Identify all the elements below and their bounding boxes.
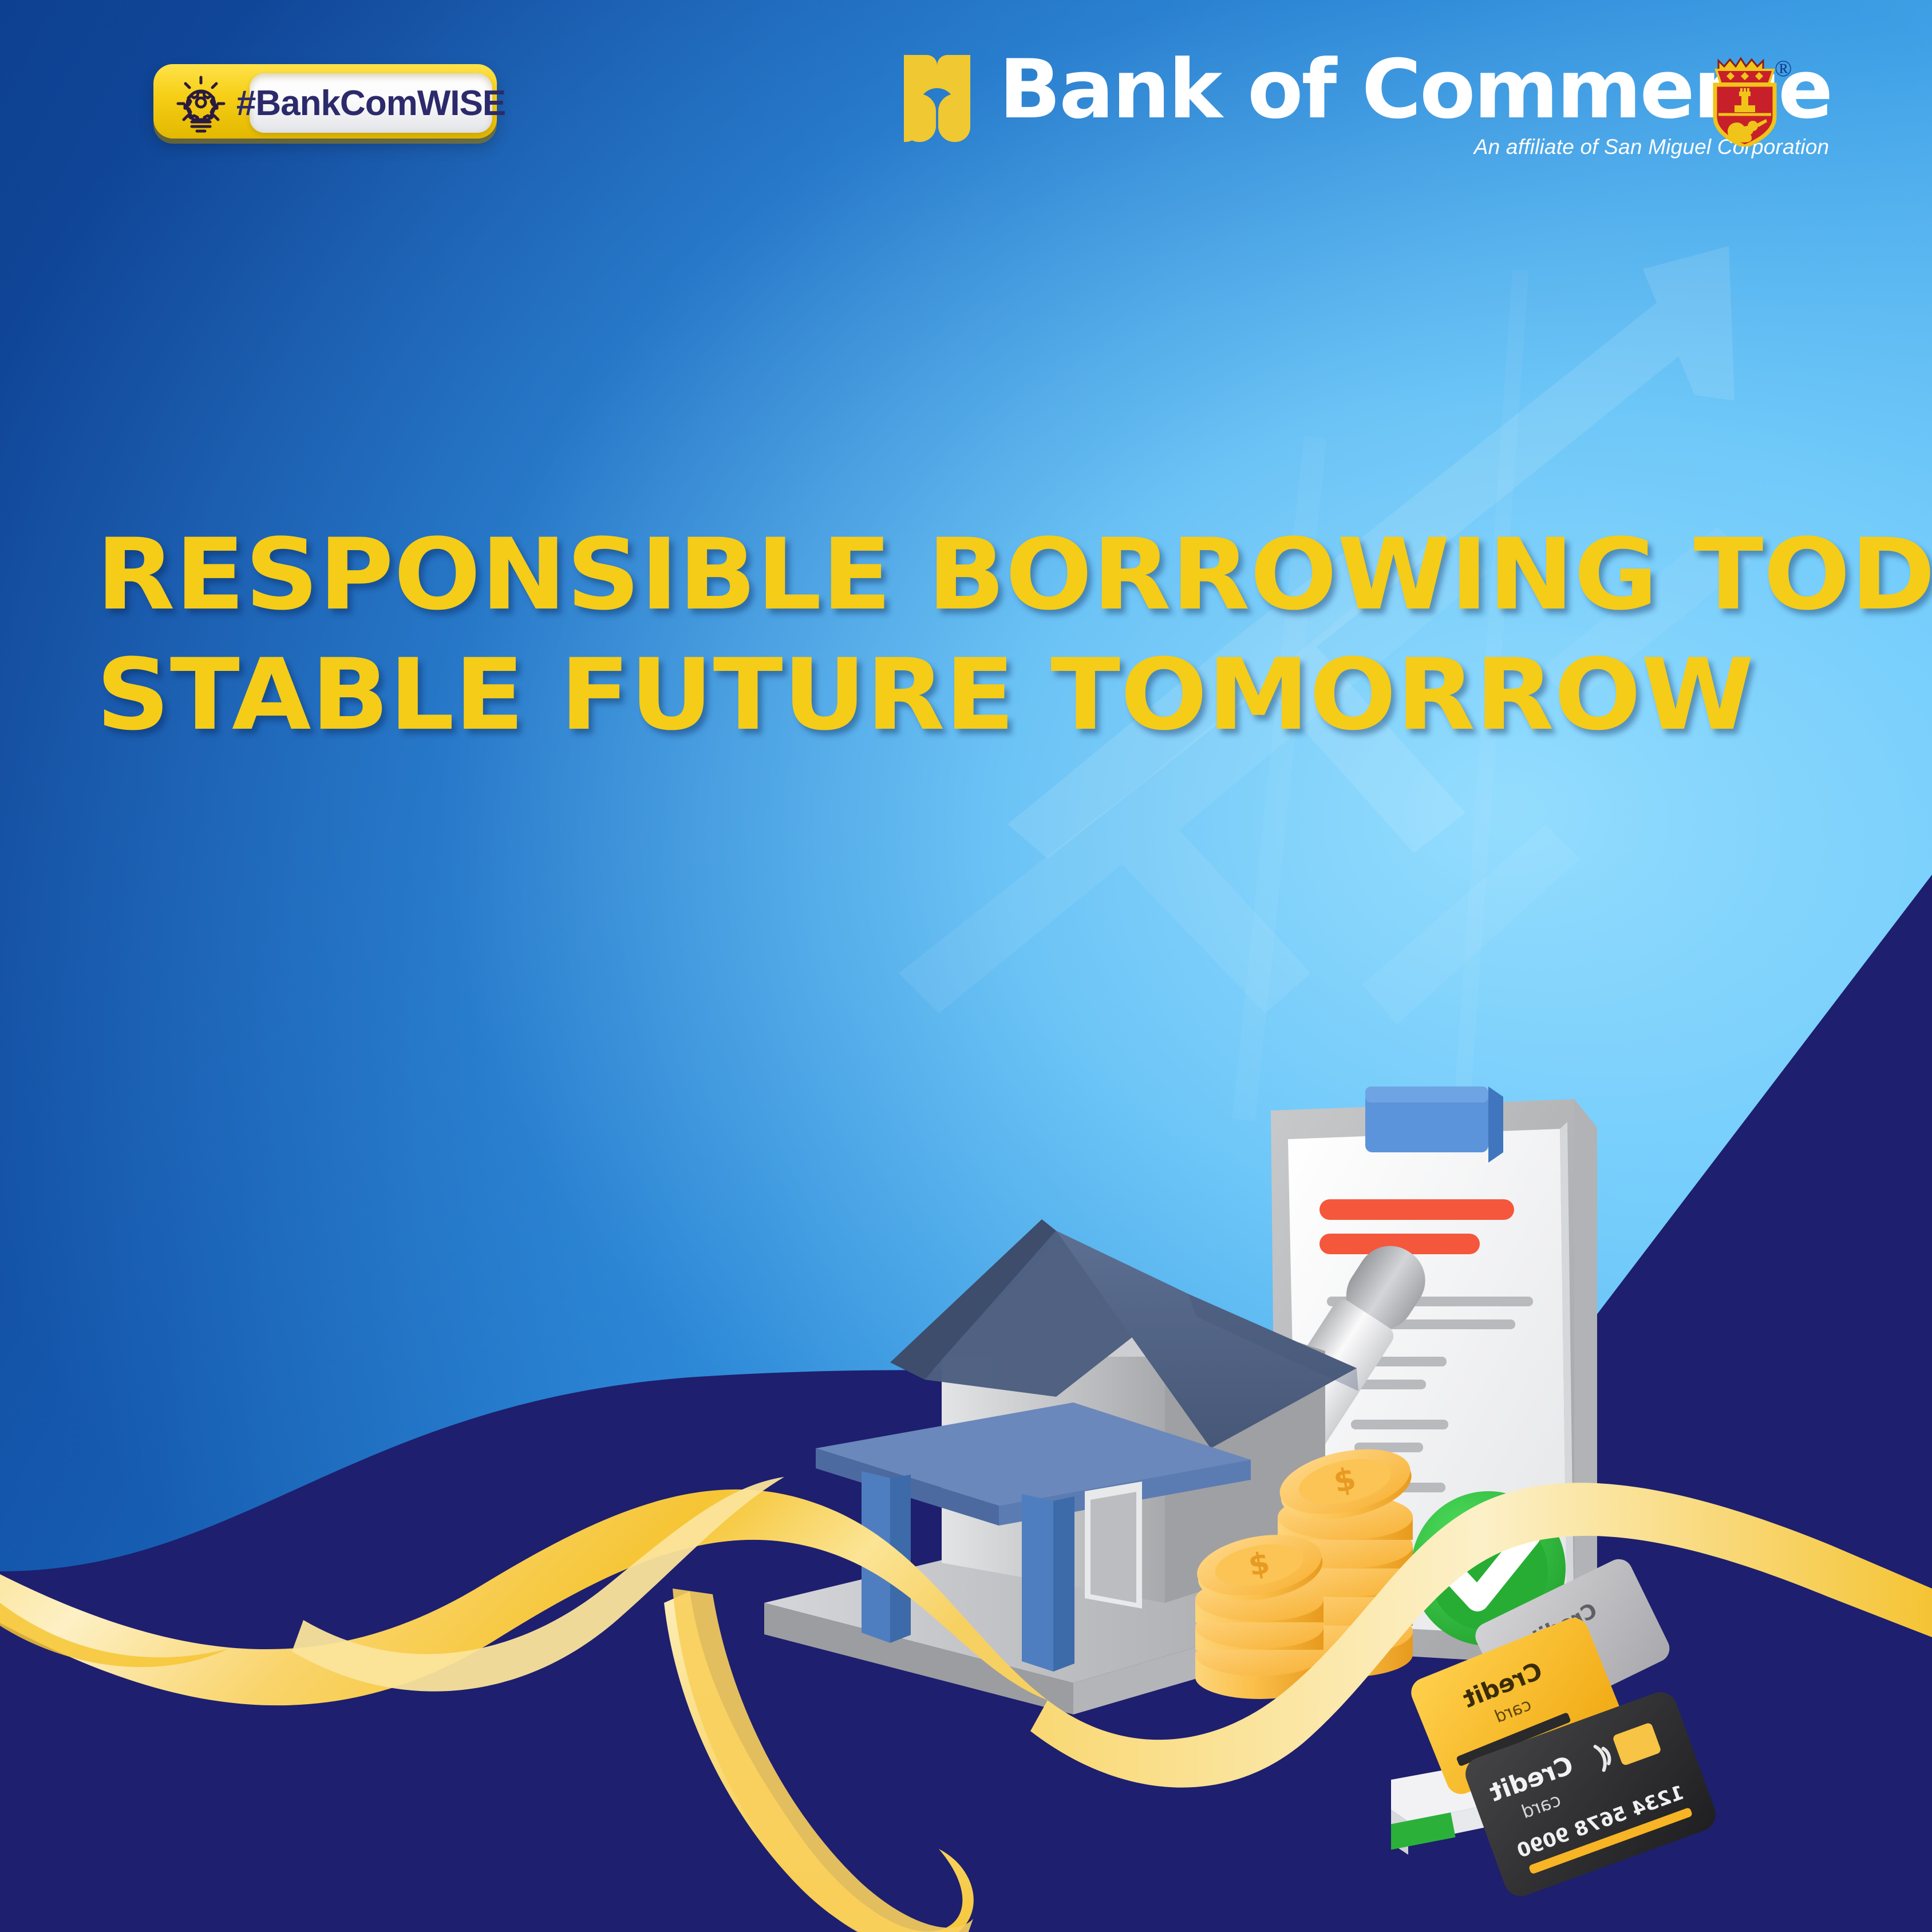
bankcomwise-badge[interactable]: #BankComWISE [153, 64, 497, 139]
bank-of-commerce-logo[interactable]: Bank of Commerce An affiliate of San Mig… [900, 49, 1831, 148]
poster-header: #BankComWISE Bank of Commerce An affilia… [0, 0, 1932, 172]
headline-line-1: RESPONSIBLE BORROWING TODAY, [96, 526, 1918, 624]
loan-approval-illustration: $ $ [675, 1019, 1932, 1932]
bank-of-commerce-leaf-mark-icon [900, 49, 974, 148]
headline-block: RESPONSIBLE BORROWING TODAY, STABLE FUTU… [96, 526, 1848, 744]
lightbulb-gear-icon [167, 64, 235, 139]
gold-ribbon [0, 996, 1932, 1932]
registered-trademark-symbol: ® [1775, 55, 1792, 82]
headline-line-2: STABLE FUTURE TOMORROW [96, 646, 1918, 744]
bankcomwise-label: #BankComWISE [236, 83, 505, 124]
poster-canvas: #BankComWISE Bank of Commerce An affilia… [0, 0, 1932, 1932]
bankcomwise-pill: #BankComWISE [250, 73, 492, 133]
